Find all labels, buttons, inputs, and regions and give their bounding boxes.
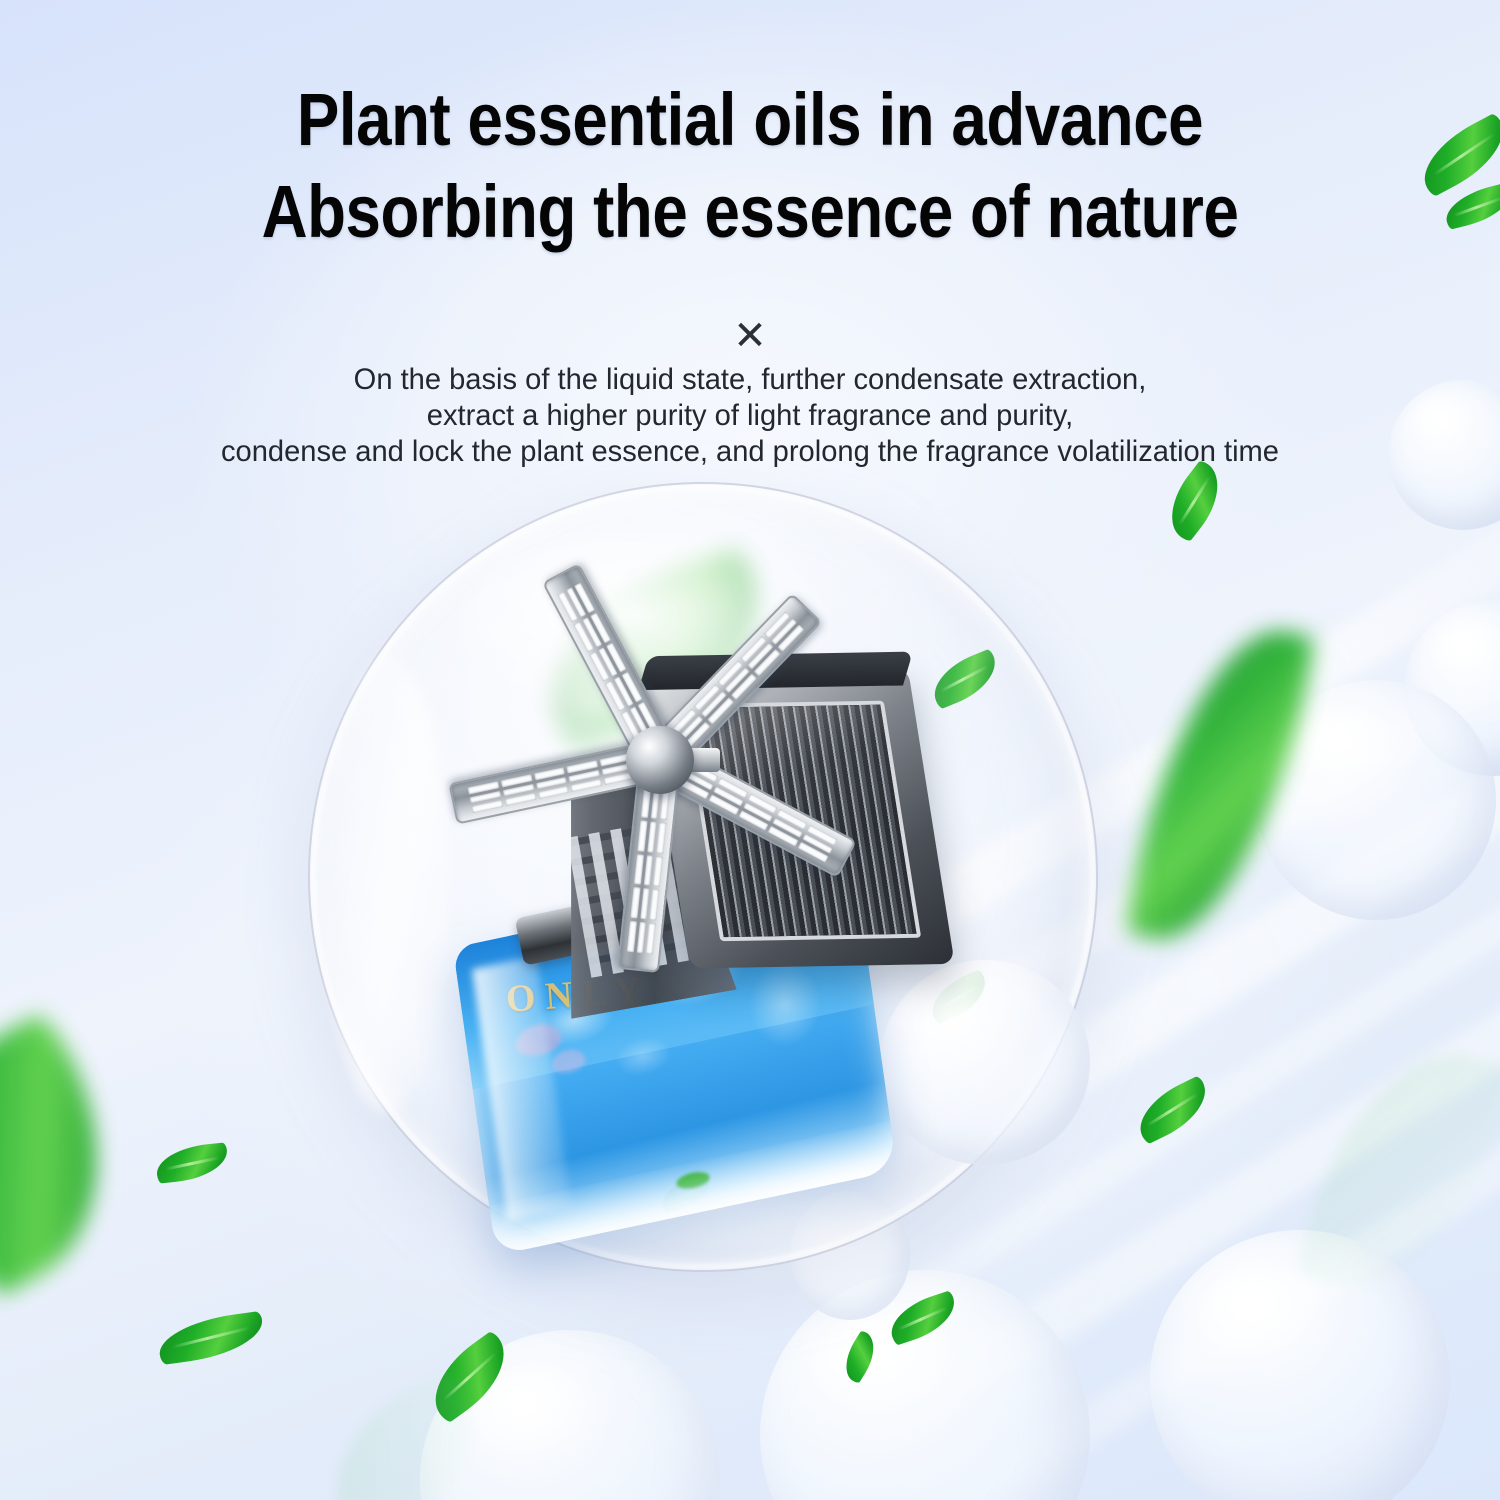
- blade-window-grid: [557, 583, 658, 742]
- subcopy-block: On the basis of the liquid state, furthe…: [23, 362, 1478, 470]
- banner-stage: Plant essential oils in advance Absorbin…: [0, 0, 1500, 1500]
- product-image: ONLY: [430, 548, 990, 1248]
- rotor-hub: [626, 726, 694, 794]
- x-mark-icon: ✕: [0, 316, 1500, 356]
- subcopy-line-1: On the basis of the liquid state, furthe…: [23, 362, 1478, 398]
- headline-line-1: Plant essential oils in advance: [297, 78, 1203, 161]
- headline-line-2: Absorbing the essence of nature: [105, 166, 1395, 258]
- page-title: Plant essential oils in advance Absorbin…: [105, 74, 1395, 258]
- subcopy-line-3: condense and lock the plant essence, and…: [23, 434, 1478, 470]
- subcopy-line-2: extract a higher purity of light fragran…: [23, 398, 1478, 434]
